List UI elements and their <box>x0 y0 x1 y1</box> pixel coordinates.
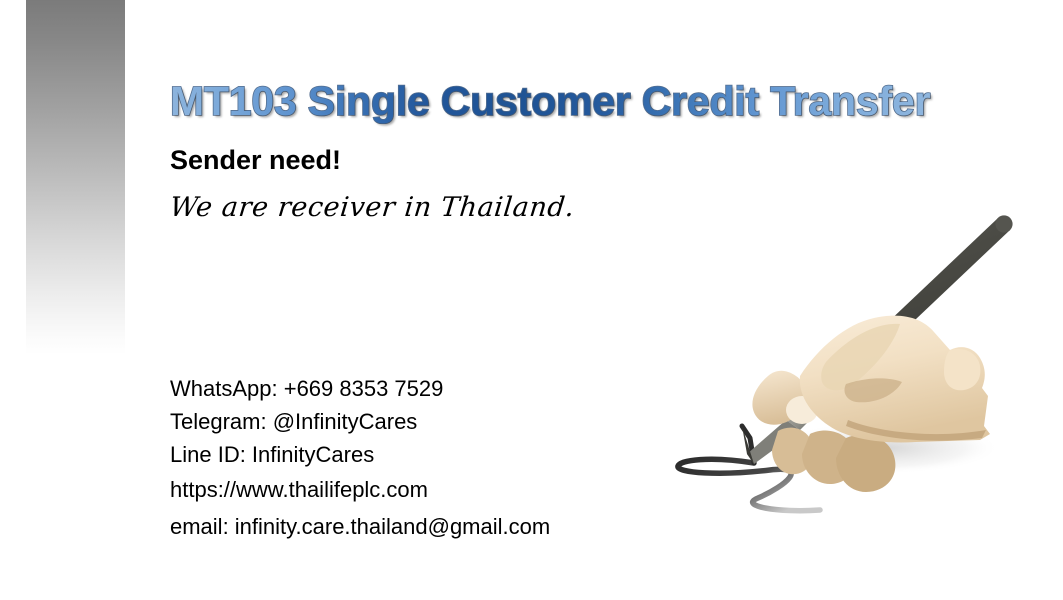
contact-line-telegram: Telegram: @InfinityCares <box>170 405 690 438</box>
side-gradient-band <box>26 0 125 355</box>
hand-writing-with-pen-icon <box>650 198 1050 533</box>
contact-block: WhatsApp: +669 8353 7529 Telegram: @Infi… <box>170 372 690 545</box>
headline-text: Sender need! <box>170 145 341 176</box>
contact-line-email[interactable]: email: infinity.care.thailand@gmail.com <box>170 508 690 545</box>
slide-canvas: MT103 Single Customer Credit Transfer MT… <box>0 0 1063 600</box>
script-subtitle-text: We are receiver in Thailand. <box>168 192 576 223</box>
contact-line-whatsapp: WhatsApp: +669 8353 7529 <box>170 372 690 405</box>
pen-cap-end <box>995 215 1012 232</box>
page-title: MT103 Single Customer Credit Transfer <box>170 78 930 125</box>
contact-line-website[interactable]: https://www.thailifeplc.com <box>170 471 690 508</box>
contact-line-lineid: Line ID: InfinityCares <box>170 438 690 471</box>
